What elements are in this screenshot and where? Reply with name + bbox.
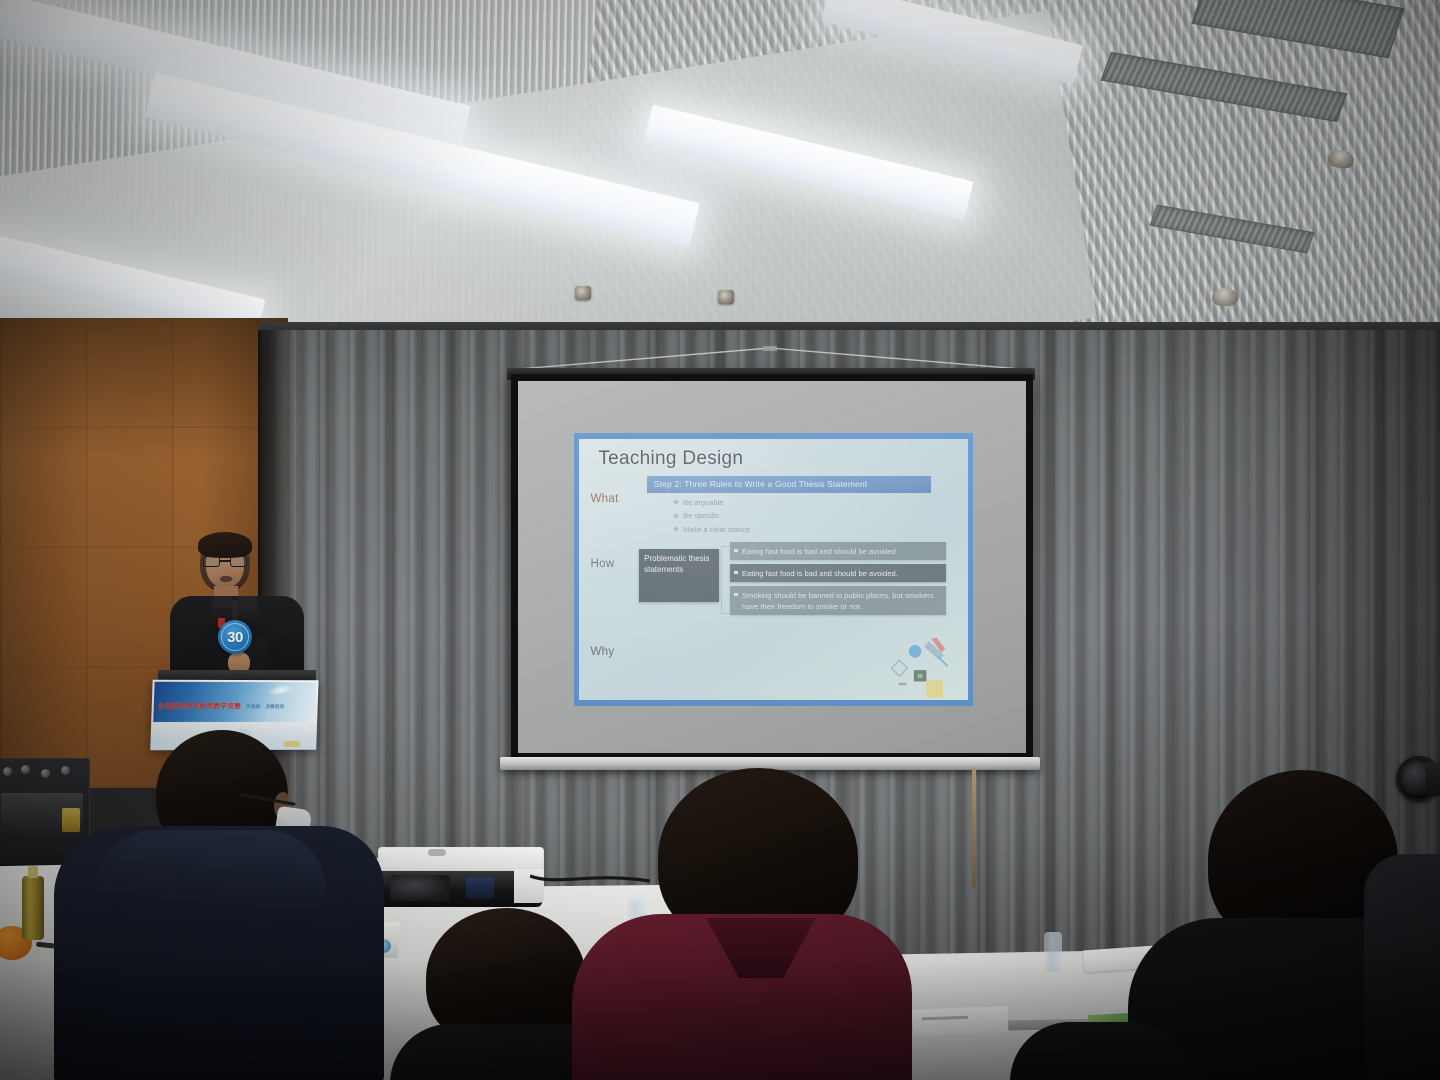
sprinkler-head: [718, 290, 734, 304]
attendee-maroon-blazer: [586, 768, 926, 1080]
slide-decoration-icon: [880, 635, 958, 698]
sprinkler-head: [575, 286, 591, 300]
attendee-hood: [96, 830, 326, 910]
slide-statement-item: Smoking should be banned in public place…: [730, 586, 946, 615]
documents: [912, 1006, 1009, 1035]
slide-rule-item: Make a clear stance: [674, 525, 888, 534]
camera-body: [1426, 762, 1440, 796]
diamond-bullet-icon: [673, 513, 679, 519]
slide-rule-item: Be arguable: [674, 498, 888, 507]
slide-border: Teaching Design What How Why Step 2: Thr…: [574, 433, 973, 706]
slide-brace-bracket: [721, 546, 729, 614]
podium-banner-subtitle: 外语组 · 决赛现场: [246, 704, 284, 710]
screen-surface: Teaching Design What How Why Step 2: Thr…: [518, 381, 1026, 753]
slide-statement-text: Eating fast food is bad and should be av…: [742, 546, 898, 557]
conference-room-photo: Teaching Design What How Why Step 2: Thr…: [0, 0, 1440, 1080]
screen-pull-pole: [972, 770, 976, 888]
slide-problematic-label: Problematic thesis statements: [639, 549, 719, 603]
rack-knob: [3, 767, 12, 776]
slide-statement-text: Eating fast food is bad and should be av…: [742, 568, 898, 579]
slide-rule-text: Make a clear stance: [683, 525, 750, 534]
attendee-navy-hoodie: [48, 730, 378, 1080]
microphone-flag: 30: [218, 620, 252, 654]
water-bottle: [1044, 932, 1062, 972]
eyeglasses-icon: [202, 556, 248, 568]
slide-step-banner-text: Step 2: Three Rules to Write a Good Thes…: [654, 479, 867, 489]
ceiling-speaker: [1212, 288, 1238, 306]
wall-shadow: [0, 318, 288, 458]
slide-step-banner: Step 2: Three Rules to Write a Good Thes…: [647, 476, 931, 493]
slide-rule-text: Be arguable: [683, 498, 723, 507]
projector-vent: [428, 849, 446, 856]
podium-banner-title: 全国高校青年教师教学竞赛: [158, 700, 242, 710]
square-bullet-icon: [734, 549, 738, 553]
square-bullet-icon: [734, 571, 738, 575]
attendee-edge-right: [1364, 854, 1440, 1080]
beverage-bottle: [22, 876, 44, 940]
diamond-bullet-icon: [673, 527, 679, 533]
video-camera: [1396, 756, 1440, 802]
slide-rule-text: Be specific: [683, 511, 719, 520]
rack-knob: [21, 765, 30, 774]
slide-rule-item: Be specific: [674, 511, 888, 520]
presenter-mouth: [220, 576, 232, 582]
projector-lens: [390, 875, 450, 901]
slide-statement-text: Smoking should be banned in public place…: [742, 590, 941, 612]
projector-port-panel: [466, 877, 494, 899]
podium-banner-text: 全国高校青年教师教学竞赛 外语组 · 决赛现场: [158, 700, 314, 710]
slide-statements-list: Eating fast food is bad and should be av…: [730, 542, 946, 619]
diamond-bullet-icon: [673, 500, 679, 506]
slide-statement-item: Eating fast food is bad and should be av…: [730, 542, 946, 560]
slide-rules-list: Be arguable Be specific Make a clear sta…: [674, 498, 888, 539]
slide-column-how: How: [591, 558, 615, 570]
mic-flag-ring: [221, 623, 249, 651]
projection-screen: Teaching Design What How Why Step 2: Thr…: [511, 374, 1033, 760]
attendee-jacket: [1364, 854, 1440, 1080]
presenter-hair: [198, 532, 252, 558]
square-bullet-icon: [734, 593, 738, 597]
ceiling: [0, 0, 1440, 345]
slide-column-why: Why: [591, 646, 615, 658]
projector: [374, 847, 544, 909]
slide-statement-item: Eating fast food is bad and should be av…: [730, 564, 946, 582]
slide-title: Teaching Design: [598, 448, 743, 470]
slide-content: Teaching Design What How Why Step 2: Thr…: [579, 439, 968, 700]
slide-column-what: What: [591, 493, 619, 505]
